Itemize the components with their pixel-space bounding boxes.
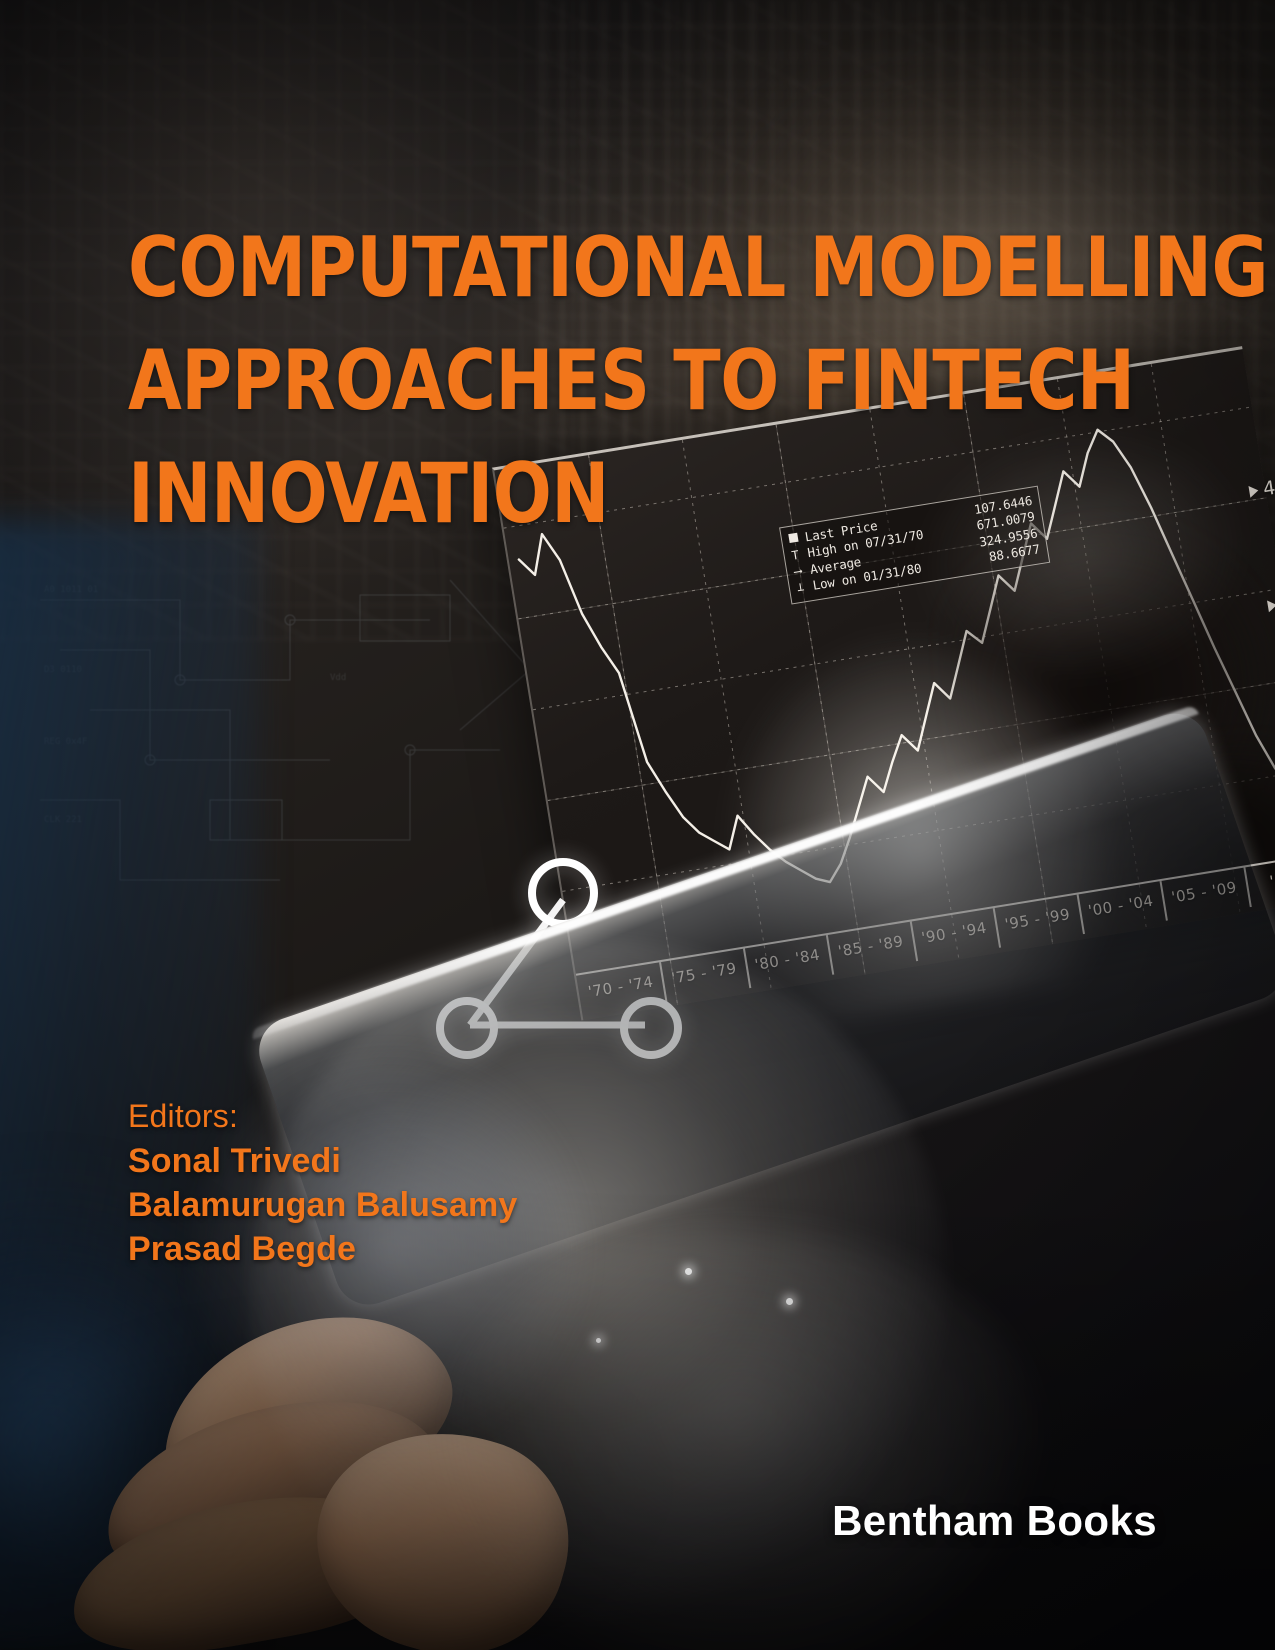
book-cover: A0 1011 01 D3 0110 REG 0x4F CLK 221 Vdd [0,0,1275,1650]
editor-name: Balamurugan Balusamy [128,1183,748,1227]
publisher-name: Bentham Books [832,1497,1157,1545]
editor-name: Prasad Begde [128,1227,748,1271]
title-line-1: COMPUTATIONAL MODELLING [128,212,1095,325]
title-line-2: APPROACHES TO FINTECH [128,325,1095,438]
cover-title: COMPUTATIONAL MODELLING APPROACHES TO FI… [128,212,1095,551]
editors-label: Editors: [128,1098,748,1135]
title-line-3: INNOVATION [128,438,1095,551]
editor-name: Sonal Trivedi [128,1139,748,1183]
editors-block: Editors: Sonal Trivedi Balamurugan Balus… [128,1098,748,1272]
